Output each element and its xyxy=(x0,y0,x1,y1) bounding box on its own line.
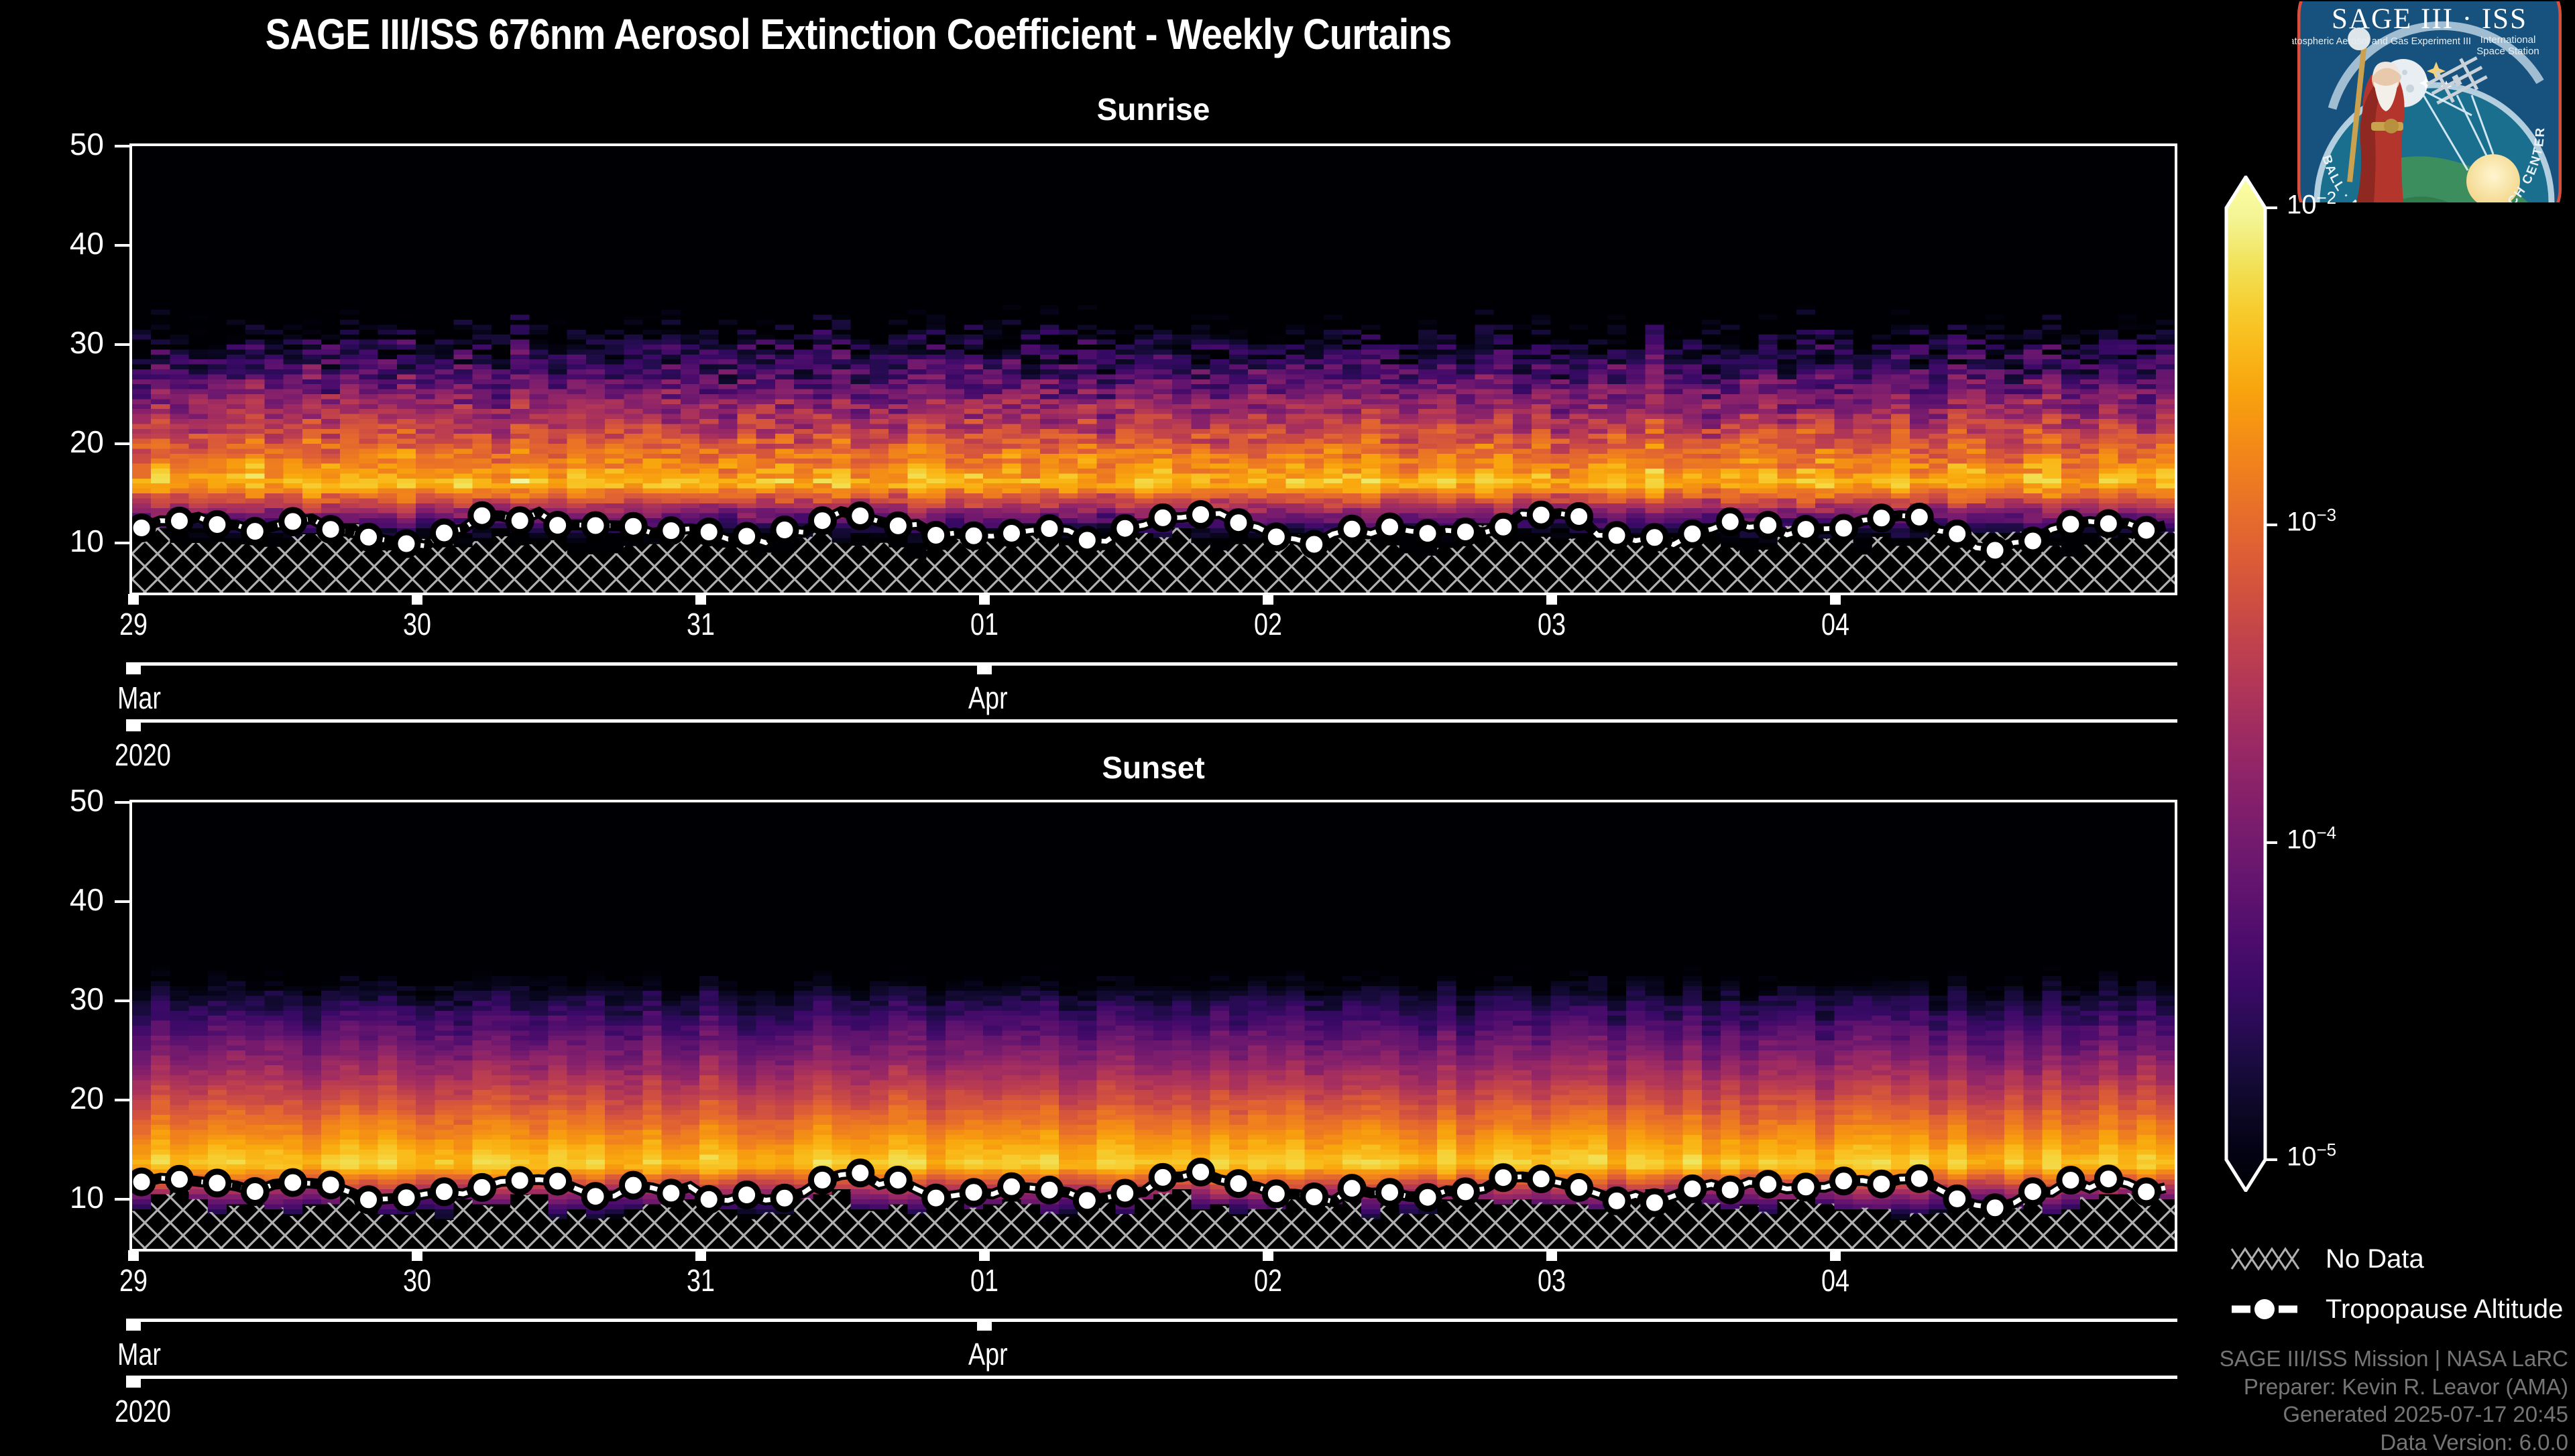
x-tick-mark xyxy=(979,594,990,605)
colorbar-tick-label--2: 10−2 xyxy=(2287,188,2336,220)
tropopause-marker xyxy=(2097,1168,2120,1191)
tropopause-marker xyxy=(357,1189,380,1211)
y-tick-mark xyxy=(115,900,129,903)
tropopause-marker xyxy=(2097,512,2120,535)
tropopause-marker xyxy=(1379,1181,1401,1204)
tropopause-marker xyxy=(1757,1173,1780,1196)
x-tick-label-03: 03 xyxy=(1507,1262,1595,1298)
tropopause-marker xyxy=(660,1182,683,1205)
y-tick-label-30: 30 xyxy=(23,324,104,361)
tropopause-marker xyxy=(622,515,644,538)
y-tick-label-10: 10 xyxy=(23,523,104,559)
tropopause-marker xyxy=(1870,1172,1893,1195)
tropopause-icon xyxy=(2230,1294,2311,1325)
x-tick-label-31: 31 xyxy=(656,1262,744,1298)
tropopause-marker xyxy=(1908,505,1931,528)
year-tick-mark xyxy=(126,1376,141,1388)
tropopause-marker xyxy=(1151,506,1174,529)
tropopause-marker xyxy=(1568,1176,1591,1199)
x-tick-label-04: 04 xyxy=(1791,1262,1879,1298)
month-tick-mark xyxy=(126,662,141,674)
x-tick-label-03: 03 xyxy=(1507,606,1595,642)
y-tick-label-20: 20 xyxy=(23,1080,104,1116)
tropopause-marker xyxy=(1454,1180,1477,1203)
tropopause-marker xyxy=(1151,1166,1174,1189)
logo-title: SAGE III · ISS xyxy=(2332,3,2527,35)
tropopause-marker xyxy=(697,1188,720,1211)
tropopause-marker xyxy=(471,504,494,527)
x-tick-label-29: 29 xyxy=(89,606,177,642)
month-label-Apr: Apr xyxy=(968,1336,1008,1372)
footer-credits: SAGE III/ISS Mission | NASA LaRC Prepare… xyxy=(2220,1345,2568,1456)
y-tick-label-50: 50 xyxy=(23,126,104,162)
x-tick-mark xyxy=(412,594,422,605)
plot-area-sunset[interactable] xyxy=(129,800,2177,1252)
panel-title-sunrise: Sunrise xyxy=(129,91,2177,127)
x-tick-mark xyxy=(1830,594,1841,605)
tropopause-marker xyxy=(1076,529,1098,552)
tropopause-marker xyxy=(1719,1178,1741,1201)
tropopause-marker xyxy=(1000,1175,1023,1198)
y-tick-mark xyxy=(115,542,129,544)
tropopause-marker xyxy=(243,520,266,543)
tropopause-marker xyxy=(849,505,872,528)
month-axis-rule xyxy=(129,662,2177,666)
x-tick-mark xyxy=(695,1250,706,1261)
colorbar xyxy=(2224,176,2268,1192)
tropopause-marker xyxy=(1530,503,1552,526)
tropopause-marker xyxy=(547,514,569,537)
tropopause-marker xyxy=(2135,1180,2158,1203)
tropopause-marker xyxy=(1984,1197,2006,1219)
y-tick-label-40: 40 xyxy=(23,882,104,918)
sage-iii-iss-logo: BALL · NASA LANGLEY RESEARCH CENTER · TA… xyxy=(2292,1,2567,202)
x-tick-mark xyxy=(1546,594,1557,605)
tropopause-marker xyxy=(622,1174,644,1197)
tropopause-marker xyxy=(1946,1187,1969,1210)
x-tick-mark xyxy=(695,594,706,605)
tropopause-marker xyxy=(925,524,948,547)
tropopause-marker xyxy=(1832,517,1855,540)
x-tick-label-02: 02 xyxy=(1224,606,1312,642)
tropopause-marker xyxy=(697,521,720,544)
tropopause-marker xyxy=(1908,1167,1931,1190)
x-tick-label-31: 31 xyxy=(656,606,744,642)
plot-area-sunrise[interactable] xyxy=(129,143,2177,595)
footer-line-preparer: Preparer: Kevin R. Leavor (AMA) xyxy=(2220,1373,2568,1401)
tropopause-marker xyxy=(849,1162,872,1185)
tropopause-marker xyxy=(132,517,153,540)
tropopause-marker xyxy=(1492,515,1515,538)
tropopause-marker xyxy=(1870,507,1893,530)
tropopause-marker xyxy=(1379,515,1401,538)
x-tick-label-29: 29 xyxy=(89,1262,177,1298)
tropopause-marker xyxy=(584,1185,607,1208)
tropopause-marker xyxy=(1265,1182,1287,1205)
tropopause-marker xyxy=(357,526,380,548)
footer-line-version: Data Version: 6.0.0 xyxy=(2220,1429,2568,1456)
tropopause-marker xyxy=(1265,526,1287,548)
tropopause-marker xyxy=(1643,526,1666,549)
tropopause-marker xyxy=(395,1187,418,1209)
x-tick-label-02: 02 xyxy=(1224,1262,1312,1298)
tropopause-marker xyxy=(1681,1178,1704,1201)
tropopause-marker xyxy=(811,509,834,532)
tropopause-marker xyxy=(282,1171,304,1194)
tropopause-marker xyxy=(206,1172,229,1195)
tropopause-marker xyxy=(1984,539,2006,562)
tropopause-marker xyxy=(1794,1176,1817,1199)
tropopause-marker xyxy=(2059,513,2082,536)
month-tick-mark xyxy=(977,662,992,674)
colorbar-tick-mark xyxy=(2264,524,2277,526)
tropopause-marker xyxy=(584,514,607,537)
tropopause-marker xyxy=(132,1170,153,1193)
colorbar-tick-mark xyxy=(2264,1158,2277,1161)
y-tick-mark xyxy=(115,343,129,346)
tropopause-marker xyxy=(1794,518,1817,541)
footer-line-generated: Generated 2025-07-17 20:45 xyxy=(2220,1400,2568,1429)
year-axis-rule xyxy=(129,719,2177,723)
tropopause-marker xyxy=(886,1168,909,1191)
tropopause-marker xyxy=(1416,1186,1439,1209)
y-tick-mark xyxy=(115,801,129,804)
y-tick-mark xyxy=(115,145,129,147)
legend-item-tropopause: Tropopause Altitude xyxy=(2230,1294,2563,1325)
y-tick-label-20: 20 xyxy=(23,424,104,460)
tropopause-marker xyxy=(168,1168,191,1191)
tropopause-marker xyxy=(1340,518,1363,540)
tropopause-marker xyxy=(736,525,758,548)
logo-subtitle-right-2: Space Station xyxy=(2476,46,2539,57)
y-tick-label-50: 50 xyxy=(23,782,104,818)
tropopause-marker xyxy=(1832,1170,1855,1193)
tropopause-marker xyxy=(168,509,191,532)
tropopause-marker xyxy=(1340,1177,1363,1200)
x-tick-label-01: 01 xyxy=(940,1262,1028,1298)
tropopause-marker xyxy=(1719,510,1741,533)
tropopause-marker xyxy=(1492,1166,1515,1189)
tropopause-marker xyxy=(2022,1180,2045,1203)
tropopause-marker xyxy=(243,1180,266,1203)
x-tick-label-30: 30 xyxy=(373,606,461,642)
x-tick-label-30: 30 xyxy=(373,1262,461,1298)
tropopause-marker xyxy=(1227,511,1250,534)
tropopause-marker xyxy=(508,509,531,532)
x-tick-mark xyxy=(128,594,139,605)
x-tick-mark xyxy=(979,1250,990,1261)
colorbar-body xyxy=(2226,177,2265,1191)
tropopause-marker xyxy=(282,510,304,533)
tropopause-marker xyxy=(962,524,985,547)
month-label-Apr: Apr xyxy=(968,680,1008,716)
y-tick-mark xyxy=(115,999,129,1002)
tropopause-marker xyxy=(1757,514,1780,537)
colorbar-tick-mark xyxy=(2264,206,2277,209)
page-title: SAGE III/ISS 676nm Aerosol Extinction Co… xyxy=(103,9,1614,59)
colorbar-tick-label--4: 10−4 xyxy=(2287,823,2336,855)
x-tick-mark xyxy=(1263,1250,1273,1261)
y-tick-mark xyxy=(115,1099,129,1101)
legend-item-no-data: No Data xyxy=(2230,1243,2424,1274)
tropopause-marker xyxy=(471,1176,494,1199)
colorbar-tick-mark xyxy=(2264,841,2277,844)
legend-label-no-data: No Data xyxy=(2326,1244,2424,1274)
tropopause-marker xyxy=(319,518,342,541)
tropopause-marker xyxy=(1303,1186,1326,1209)
tropopause-marker xyxy=(433,522,455,544)
y-tick-label-10: 10 xyxy=(23,1179,104,1215)
overlay-sunrise xyxy=(132,146,2175,593)
colorbar-gradient xyxy=(2224,176,2268,1192)
tropopause-marker xyxy=(508,1169,531,1192)
tropopause-marker xyxy=(1568,505,1591,528)
year-axis-rule xyxy=(129,1376,2177,1379)
tropopause-marker xyxy=(547,1170,569,1193)
tropopause-marker xyxy=(773,1187,796,1209)
tropopause-marker xyxy=(886,514,909,537)
tropopause-marker xyxy=(1605,1189,1628,1212)
tropopause-marker xyxy=(1076,1189,1098,1212)
tropopause-marker xyxy=(1530,1168,1552,1191)
month-tick-mark xyxy=(126,1319,141,1331)
x-tick-mark xyxy=(128,1250,139,1261)
footer-line-mission: SAGE III/ISS Mission | NASA LaRC xyxy=(2220,1345,2568,1373)
tropopause-marker xyxy=(1946,522,1969,545)
tropopause-marker xyxy=(1114,1182,1137,1205)
tropopause-marker xyxy=(1454,521,1477,544)
logo-subtitle-right-1: International xyxy=(2480,34,2536,46)
x-tick-mark xyxy=(1263,594,1273,605)
tropopause-marker xyxy=(2059,1169,2082,1192)
month-label-Mar: Mar xyxy=(117,680,161,716)
tropopause-marker xyxy=(962,1181,985,1204)
tropopause-marker xyxy=(660,520,683,542)
tropopause-marker xyxy=(1227,1172,1250,1195)
tropopause-marker xyxy=(736,1184,758,1207)
tropopause-marker xyxy=(1605,524,1628,547)
x-tick-label-04: 04 xyxy=(1791,606,1879,642)
colorbar-tick-label--3: 10−3 xyxy=(2287,505,2336,537)
tropopause-marker xyxy=(773,519,796,542)
tropopause-marker xyxy=(1681,522,1704,545)
colorbar-tick-label--5: 10−5 xyxy=(2287,1140,2336,1172)
tropopause-marker xyxy=(395,532,418,555)
x-tick-mark xyxy=(1830,1250,1841,1261)
year-label-2020: 2020 xyxy=(115,1393,171,1429)
tropopause-marker xyxy=(811,1168,834,1191)
x-tick-mark xyxy=(1546,1250,1557,1261)
tropopause-marker xyxy=(1303,533,1326,556)
month-label-Mar: Mar xyxy=(117,1336,161,1372)
no-data-icon xyxy=(2230,1243,2311,1274)
x-tick-mark xyxy=(412,1250,422,1261)
tropopause-marker xyxy=(2135,519,2158,542)
y-tick-mark xyxy=(115,1198,129,1201)
overlay-sunset xyxy=(132,802,2175,1249)
tropopause-marker xyxy=(1643,1191,1666,1214)
x-tick-label-01: 01 xyxy=(940,606,1028,642)
legend-label-tropopause: Tropopause Altitude xyxy=(2326,1294,2563,1325)
logo-graphic: BALL · NASA LANGLEY RESEARCH CENTER · TA… xyxy=(2292,1,2567,202)
tropopause-marker xyxy=(2022,530,2045,552)
tropopause-marker xyxy=(1038,518,1061,540)
tropopause-marker xyxy=(1416,522,1439,545)
month-axis-rule xyxy=(129,1319,2177,1322)
y-tick-mark xyxy=(115,442,129,445)
tropopause-marker xyxy=(319,1174,342,1197)
logo-subtitle-left: Stratospheric Aerosol and Gas Experiment… xyxy=(2292,36,2471,47)
y-tick-label-30: 30 xyxy=(23,981,104,1017)
panel-title-sunset: Sunset xyxy=(129,749,2177,786)
tropopause-marker xyxy=(206,513,229,536)
tropopause-marker xyxy=(925,1187,948,1209)
tropopause-marker xyxy=(1190,503,1212,526)
tropopause-marker xyxy=(1114,517,1137,540)
tropopause-marker xyxy=(433,1180,455,1203)
y-tick-label-40: 40 xyxy=(23,225,104,261)
tropopause-marker xyxy=(1000,522,1023,545)
tropopause-marker xyxy=(1038,1178,1061,1201)
y-tick-mark xyxy=(115,244,129,247)
month-tick-mark xyxy=(977,1319,992,1331)
year-tick-mark xyxy=(126,719,141,731)
tropopause-marker xyxy=(1190,1160,1212,1183)
